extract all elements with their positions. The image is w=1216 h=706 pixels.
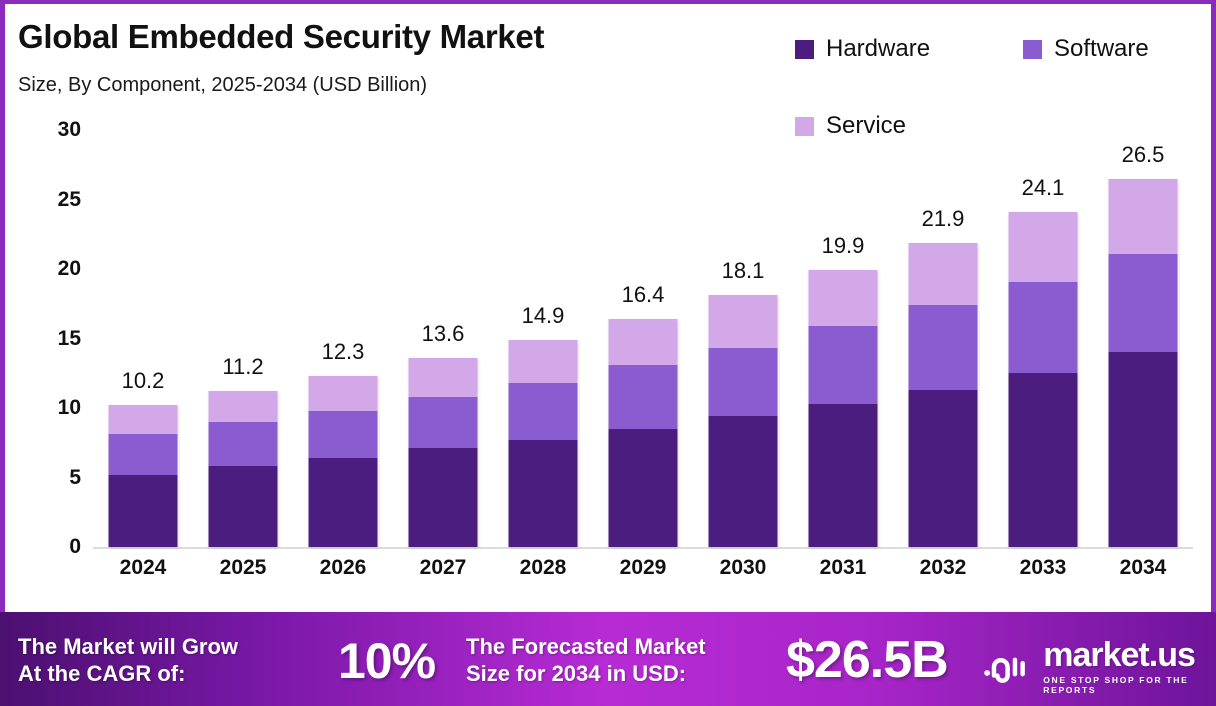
cagr-value: 10%	[338, 632, 435, 690]
plot-area: 051015202530 10.211.212.313.614.916.418.…	[5, 4, 1211, 612]
x-tick-slot: 2024	[93, 4, 193, 612]
x-tick-slot: 2027	[393, 4, 493, 612]
y-axis-tick: 30	[58, 118, 81, 142]
chart-panel: Global Embedded Security Market Size, By…	[5, 4, 1211, 612]
x-axis-tick: 2024	[120, 556, 167, 580]
summary-banner: The Market will Grow At the CAGR of: 10%…	[0, 612, 1216, 706]
x-tick-slot: 2028	[493, 4, 593, 612]
y-axis-tick: 20	[58, 257, 81, 281]
x-tick-slot: 2032	[893, 4, 993, 612]
cagr-caption: The Market will Grow At the CAGR of:	[18, 634, 238, 688]
market-us-logo-icon	[982, 647, 1033, 687]
x-axis-tick: 2031	[820, 556, 867, 580]
cagr-caption-line2: At the CAGR of:	[18, 661, 238, 688]
infographic-root: Global Embedded Security Market Size, By…	[0, 0, 1216, 706]
forecast-caption-line2: Size for 2034 in USD:	[466, 661, 706, 688]
x-axis-tick: 2028	[520, 556, 567, 580]
x-tick-slot: 2025	[193, 4, 293, 612]
forecast-value: $26.5B	[786, 630, 948, 690]
x-axis-tick: 2032	[920, 556, 967, 580]
x-tick-slot: 2033	[993, 4, 1093, 612]
x-axis-tick: 2027	[420, 556, 467, 580]
y-axis-tick: 0	[69, 535, 81, 559]
brand-tagline: ONE STOP SHOP FOR THE REPORTS	[1043, 675, 1216, 695]
x-axis-tick: 2033	[1020, 556, 1067, 580]
x-tick-slot: 2026	[293, 4, 393, 612]
x-axis-tick: 2026	[320, 556, 367, 580]
x-tick-slot: 2029	[593, 4, 693, 612]
x-axis-tick: 2025	[220, 556, 267, 580]
x-tick-slot: 2034	[1093, 4, 1193, 612]
x-axis-tick: 2030	[720, 556, 767, 580]
forecast-caption-line1: The Forecasted Market	[466, 634, 706, 661]
frame-border-right	[1211, 0, 1216, 612]
x-axis-tick: 2034	[1120, 556, 1167, 580]
x-axis-tick: 2029	[620, 556, 667, 580]
y-axis-tick: 5	[69, 466, 81, 490]
y-axis-tick: 10	[58, 396, 81, 420]
y-axis-tick: 15	[58, 327, 81, 351]
x-axis-ticks: 2024202520262027202820292030203120322033…	[93, 4, 1193, 612]
brand-logo[interactable]: market.us ONE STOP SHOP FOR THE REPORTS	[982, 638, 1216, 695]
brand-name: market.us	[1043, 638, 1216, 672]
x-tick-slot: 2031	[793, 4, 893, 612]
cagr-caption-line1: The Market will Grow	[18, 634, 238, 661]
x-tick-slot: 2030	[693, 4, 793, 612]
forecast-caption: The Forecasted Market Size for 2034 in U…	[466, 634, 706, 688]
y-axis-tick: 25	[58, 188, 81, 212]
